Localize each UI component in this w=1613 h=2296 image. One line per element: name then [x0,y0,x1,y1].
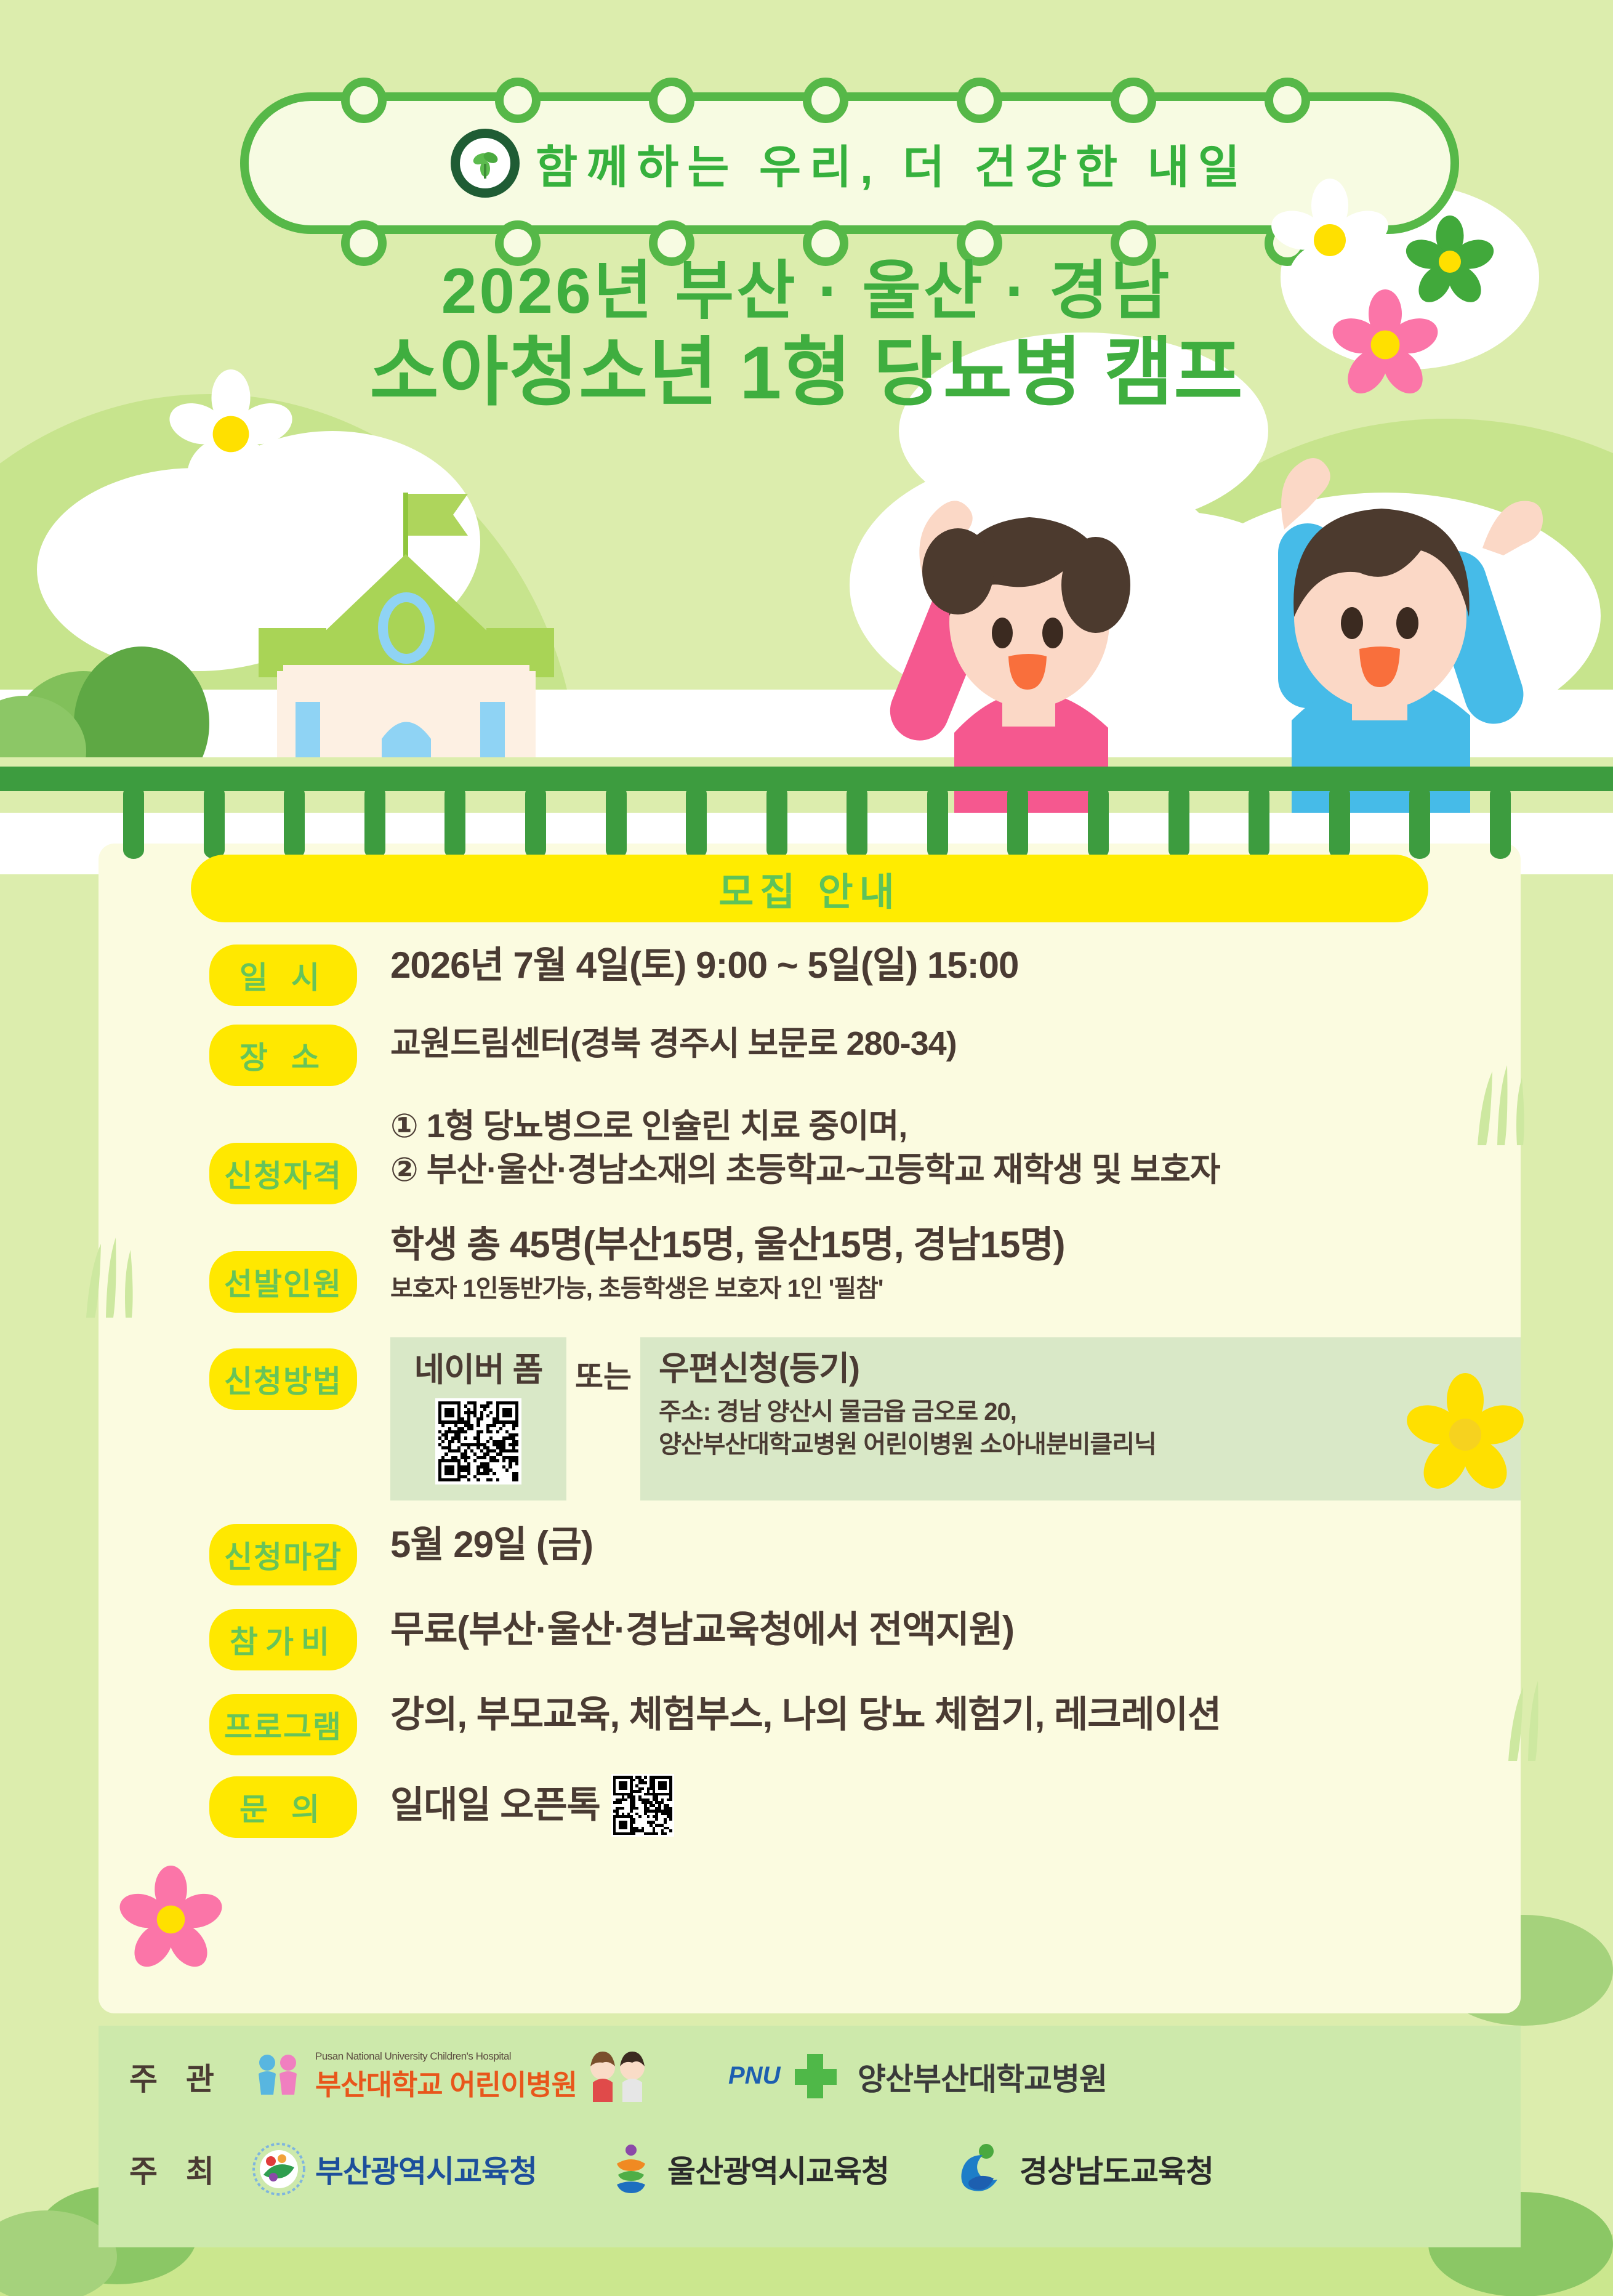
poster-title-line1: 2026년 부산 · 울산 · 경남 [0,256,1613,327]
row-apply-method: 신청방법 네이버 폼 또는 우편신청(등기) 주소: 경남 양산시 물금읍 금오… [99,1337,1521,1500]
binding-spindle [927,785,948,859]
poster-title-line2: 소아청소년 1형 당뇨병 캠프 [0,331,1613,415]
opentalk-qr-code[interactable] [611,1774,674,1837]
boy-illustration [1157,456,1601,813]
binding-spindle [1329,785,1350,859]
row-value-deadline: 5월 29일 (금) [357,1521,1521,1569]
binding-spindle [1409,785,1430,859]
naver-form-qr-code[interactable] [435,1398,521,1484]
footer-host-row: 주 관 Pusan National University Children's… [129,2050,1144,2103]
contact-opentalk-label: 일대일 오픈톡 [390,1782,600,1829]
row-label-deadline: 신청마감 [209,1524,357,1585]
footer-organizer-label: 주 최 [129,2147,252,2191]
slogan-text: 함께하는 우리, 더 건강한 내일 [536,131,1249,196]
binding-spindle [1007,785,1028,859]
poster-title: 2026년 부산 · 울산 · 경남 소아청소년 1형 당뇨병 캠프 [0,256,1613,415]
row-venue: 장 소 교원드림센터(경북 경주시 보문로 280-34) [99,1022,1521,1086]
row-value-fee: 무료(부산·울산·경남교육청에서 전액지원) [357,1606,1521,1654]
row-quota: 선발인원 학생 총 45명(부산15명, 울산15명, 경남15명) 보호자 1… [99,1222,1521,1313]
footer-host-name-2: 양산부산대학교병원 [858,2055,1107,2099]
binding-spindle [284,785,305,859]
naver-form-block[interactable]: 네이버 폼 [390,1337,566,1500]
footer-org-gyeongnam: 경상남도교육청 [957,2143,1213,2196]
binding-spindle [686,785,707,859]
pnuch-logo-icon [252,2050,305,2103]
row-contact: 문 의 일대일 오픈톡 [99,1774,1521,1838]
binding-spindle [766,785,787,859]
footer-host-pnuch: Pusan National University Children's Hos… [252,2050,652,2103]
footer-host-name-1: 부산대학교 어린이병원 [315,2063,577,2103]
binding-spindle [1169,785,1189,859]
mascot-kids-icon [584,2050,652,2103]
footer-org-busan: 부산광역시교육청 [252,2143,537,2196]
footer-org-name-2: 울산광역시교육청 [667,2147,889,2191]
postal-apply-title: 우편신청(등기) [659,1347,1500,1391]
naver-form-label: 네이버 폼 [414,1348,543,1392]
binding-spindle [606,785,627,859]
binding-spindles [99,785,1521,865]
row-value-date: 2026년 7월 4일(토) 9:00 ~ 5일(일) 15:00 [357,942,1521,989]
binding-spindle [1490,785,1511,859]
row-label-date: 일 시 [209,945,357,1006]
row-value-contact: 일대일 오픈톡 [357,1774,1521,1837]
row-label-contact: 문 의 [209,1776,357,1838]
row-date: 일 시 2026년 7월 4일(토) 9:00 ~ 5일(일) 15:00 [99,942,1521,1006]
binding-spindle [123,785,144,859]
apply-or-label: 또는 [575,1337,632,1500]
footer-org-name-3: 경상남도교육청 [1020,2147,1213,2191]
flower-pink-contact [117,1866,225,1973]
row-label-eligibility: 신청자격 [209,1143,357,1204]
binding-spindle [364,785,385,859]
footer-host-label: 주 관 [129,2055,252,2099]
row-program: 프로그램 강의, 부모교육, 체험부스, 나의 당뇨 체험기, 레크레이션 [99,1691,1521,1755]
row-value-apply-method: 네이버 폼 또는 우편신청(등기) 주소: 경남 양산시 물금읍 금오로 20,… [357,1337,1521,1500]
binding-spindle [1249,785,1269,859]
svg-text:PNU: PNU [728,2062,781,2089]
ulsan-education-office-logo-icon [605,2143,658,2196]
row-eligibility: 신청자격 ① 1형 당뇨병으로 인슐린 치료 중이며, ② 부산·울산·경남소재… [99,1105,1521,1204]
binding-spindle [847,785,867,859]
footer-panel: 주 관 Pusan National University Children's… [99,2026,1521,2247]
row-label-quota: 선발인원 [209,1251,357,1313]
row-label-program: 프로그램 [209,1694,357,1755]
busan-education-office-logo-icon [252,2143,305,2196]
footer-host-sub-text: Pusan National University Children's Hos… [315,2050,577,2063]
pnu-logo-icon: PNU [726,2050,849,2103]
section-heading-banner: 모집 안내 [191,855,1428,922]
binding-spindle [444,785,465,859]
postal-address-line2: 양산부산대학교병원 어린이병원 소아내분비클리닉 [659,1428,1500,1461]
notebook-binding [99,767,1521,865]
gyeongnam-education-office-logo-icon [957,2143,1010,2196]
row-label-fee: 참가비 [209,1609,357,1670]
section-heading-text: 모집 안내 [718,861,900,916]
footer-host-pnuyh: PNU 양산부산대학교병원 [726,2050,1107,2103]
row-label-venue: 장 소 [209,1025,357,1086]
postal-address-line1: 주소: 경남 양산시 물금읍 금오로 20, [659,1396,1500,1428]
row-label-apply-method: 신청방법 [209,1348,357,1410]
row-value-quota: 학생 총 45명(부산15명, 울산15명, 경남15명) 보호자 1인동반가능… [357,1222,1521,1305]
footer-organizer-row: 주 최 부산광역시교육청 울산 [129,2143,1250,2196]
binding-spindle [1088,785,1109,859]
row-value-program: 강의, 부모교육, 체험부스, 나의 당뇨 체험기, 레크레이션 [357,1691,1521,1739]
footer-org-ulsan: 울산광역시교육청 [605,2143,889,2196]
diabetes-camp-emblem-icon [451,129,520,198]
flower-yellow-card-right [1404,1373,1527,1496]
info-rows: 일 시 2026년 7월 4일(토) 9:00 ~ 5일(일) 15:00 장 … [99,942,1521,1844]
row-deadline: 신청마감 5월 29일 (금) [99,1521,1521,1585]
row-value-venue: 교원드림센터(경북 경주시 보문로 280-34) [357,1022,1521,1066]
poster-root: 함께하는 우리, 더 건강한 내일 2026년 부산 · 울산 · 경남 소아청… [0,0,1613,2296]
binding-spindle [525,785,546,859]
postal-apply-block: 우편신청(등기) 주소: 경남 양산시 물금읍 금오로 20, 양산부산대학교병… [640,1337,1521,1500]
row-fee: 참가비 무료(부산·울산·경남교육청에서 전액지원) [99,1606,1521,1670]
row-value-eligibility: ① 1형 당뇨병으로 인슐린 치료 중이며, ② 부산·울산·경남소재의 초등학… [357,1105,1521,1193]
footer-org-name-1: 부산광역시교육청 [315,2147,537,2191]
binding-spindle [204,785,225,859]
illustration-scene [0,468,1613,813]
